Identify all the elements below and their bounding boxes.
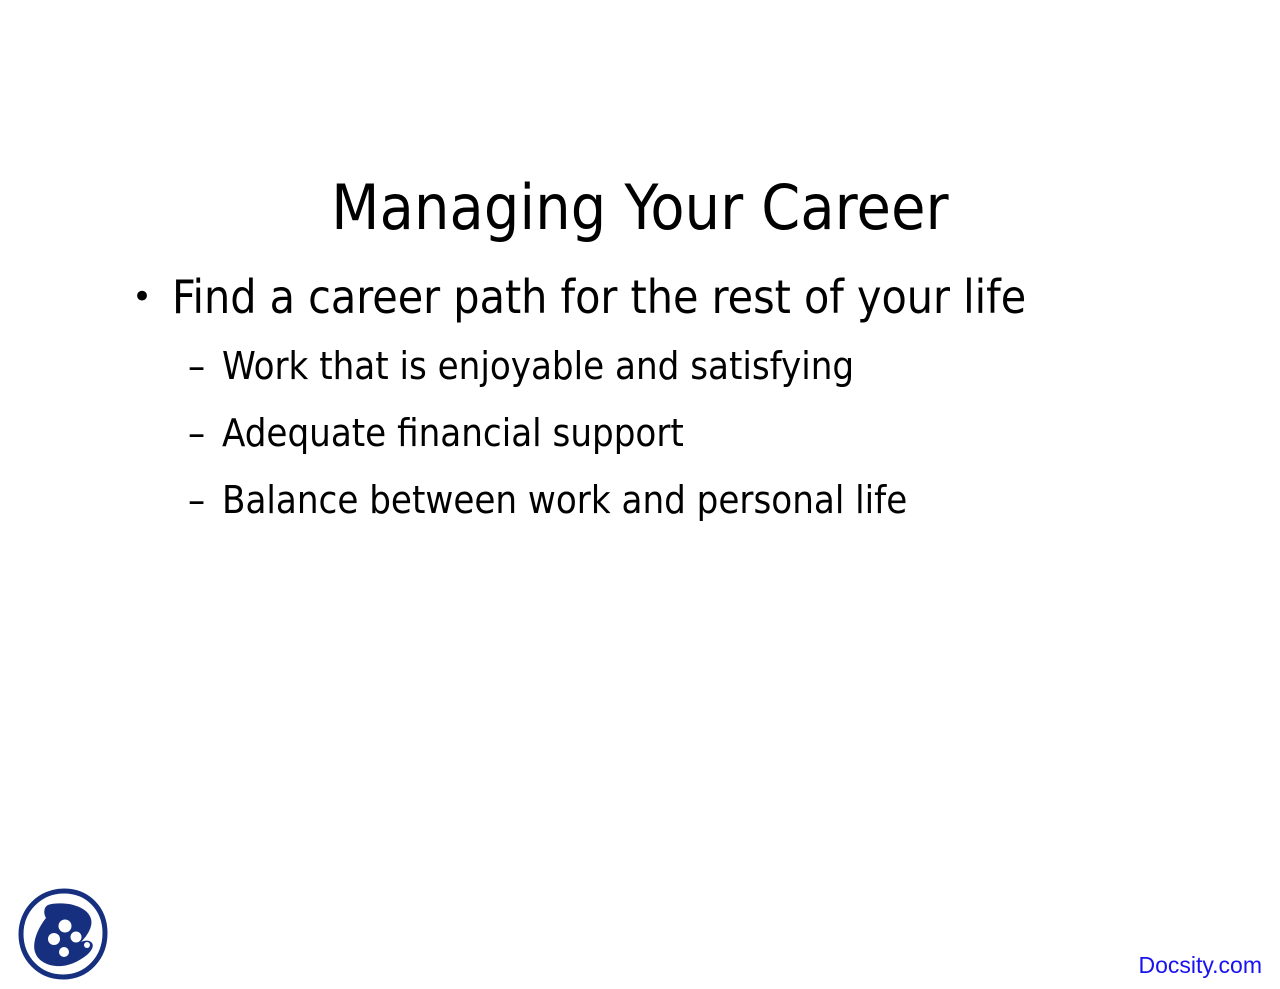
bullet-item-level2: – Adequate financial support [0,401,1280,466]
bullet-text-level1: Find a career path for the rest of your … [172,266,1026,328]
bullet-item-level1: • Find a career path for the rest of you… [0,266,1280,328]
docsity-logo-icon [18,888,108,980]
bullet-text-level2: Adequate financial support [222,401,684,466]
page-title: Managing Your Career [0,168,1280,248]
bullet-marker-dash-icon: – [188,334,222,399]
bullet-item-level2: – Balance between work and personal life [0,468,1280,533]
docsity-watermark: Docsity.com [1138,951,1262,979]
bullet-text-level2: Balance between work and personal life [222,468,907,533]
slide-canvas: Managing Your Career • Find a career pat… [0,0,1280,989]
bullet-marker-dot-icon: • [132,266,172,328]
bullet-item-level2: – Work that is enjoyable and satisfying [0,334,1280,399]
bullet-marker-dash-icon: – [188,401,222,466]
slide-body: • Find a career path for the rest of you… [0,266,1280,535]
bullet-marker-dash-icon: – [188,468,222,533]
bullet-text-level2: Work that is enjoyable and satisfying [222,334,854,399]
